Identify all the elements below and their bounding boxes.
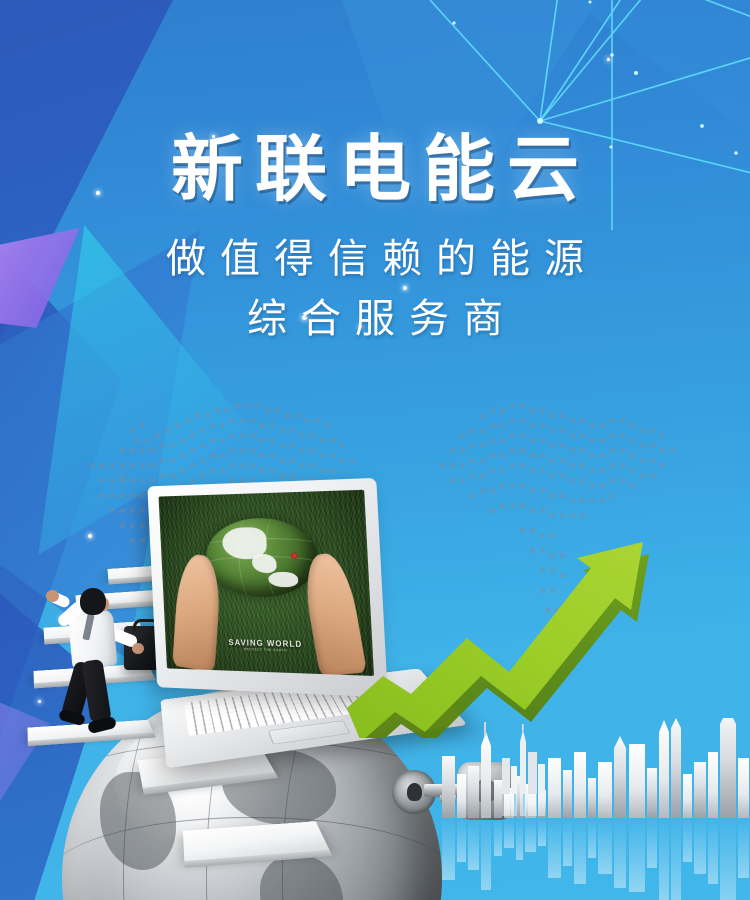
brand-title: 新联电能云 [0,130,750,211]
promo-banner: 新联电能云 做值得信赖的能源 综合服务商 [0,0,750,900]
subtitle-line-2: 综合服务商 [0,289,750,350]
subtitle-line-1: 做值得信赖的能源 [0,229,750,290]
sparkle-dot [607,58,610,61]
brand-subtitle: 做值得信赖的能源 综合服务商 [0,229,750,351]
world-map-dots [60,398,700,728]
sparkle-dot [38,700,41,703]
headline-block: 新联电能云 做值得信赖的能源 综合服务商 [0,130,750,350]
